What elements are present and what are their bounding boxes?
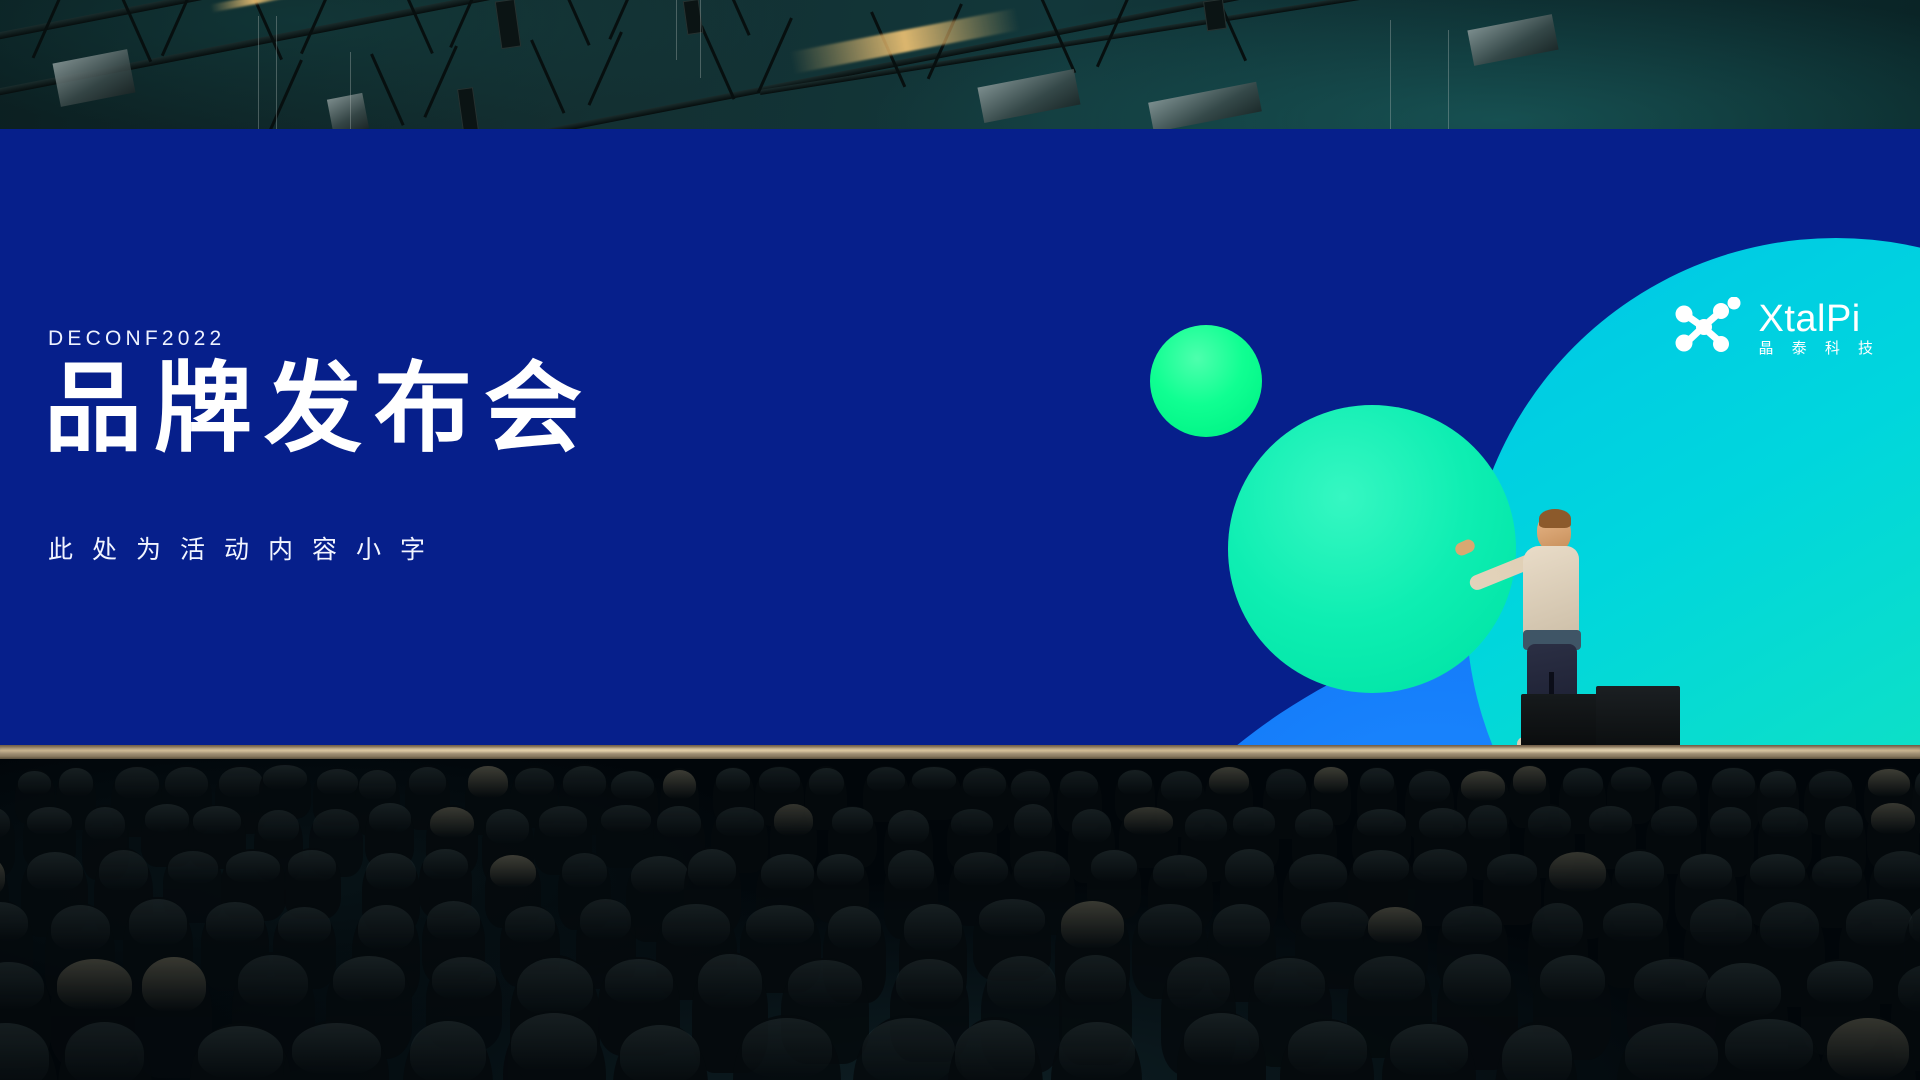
logo-name-en: XtalPi bbox=[1758, 300, 1880, 338]
ceiling-panel bbox=[327, 93, 369, 132]
audience-section bbox=[0, 759, 1920, 1080]
molecule-icon bbox=[1673, 297, 1741, 359]
venue-ceiling bbox=[0, 0, 1920, 132]
event-code-kicker: DECONF2022 bbox=[48, 327, 225, 351]
logo-name-cn: 晶 泰 科 技 bbox=[1758, 341, 1880, 356]
stage-edge-light bbox=[0, 748, 1920, 752]
rigging-wire bbox=[676, 0, 677, 60]
xtalpi-logo: XtalPi 晶 泰 科 技 bbox=[1673, 297, 1880, 359]
rigging-wire bbox=[700, 0, 701, 78]
small-green-circle bbox=[1150, 325, 1262, 437]
rigging-wire bbox=[276, 16, 277, 132]
event-subtitle: 此处为活动内容小字 bbox=[48, 530, 444, 566]
rigging-wire bbox=[1448, 30, 1449, 130]
led-stage-screen: DECONF2022 品牌发布会 此处为活动内容小字 Intelligent n… bbox=[0, 129, 1920, 748]
logo-wordmark: XtalPi 晶 泰 科 技 bbox=[1758, 300, 1880, 356]
page-title: 品牌发布会 bbox=[44, 357, 594, 463]
presenter-hair bbox=[1539, 509, 1571, 528]
rigging-wire bbox=[350, 52, 351, 132]
conference-stage-photo: DECONF2022 品牌发布会 此处为活动内容小字 Intelligent n… bbox=[0, 0, 1920, 1080]
hanging-speaker bbox=[1203, 0, 1227, 31]
rigging-wire bbox=[258, 16, 259, 132]
stage-monitor-2 bbox=[1596, 686, 1680, 748]
rigging-wire bbox=[1390, 20, 1391, 130]
